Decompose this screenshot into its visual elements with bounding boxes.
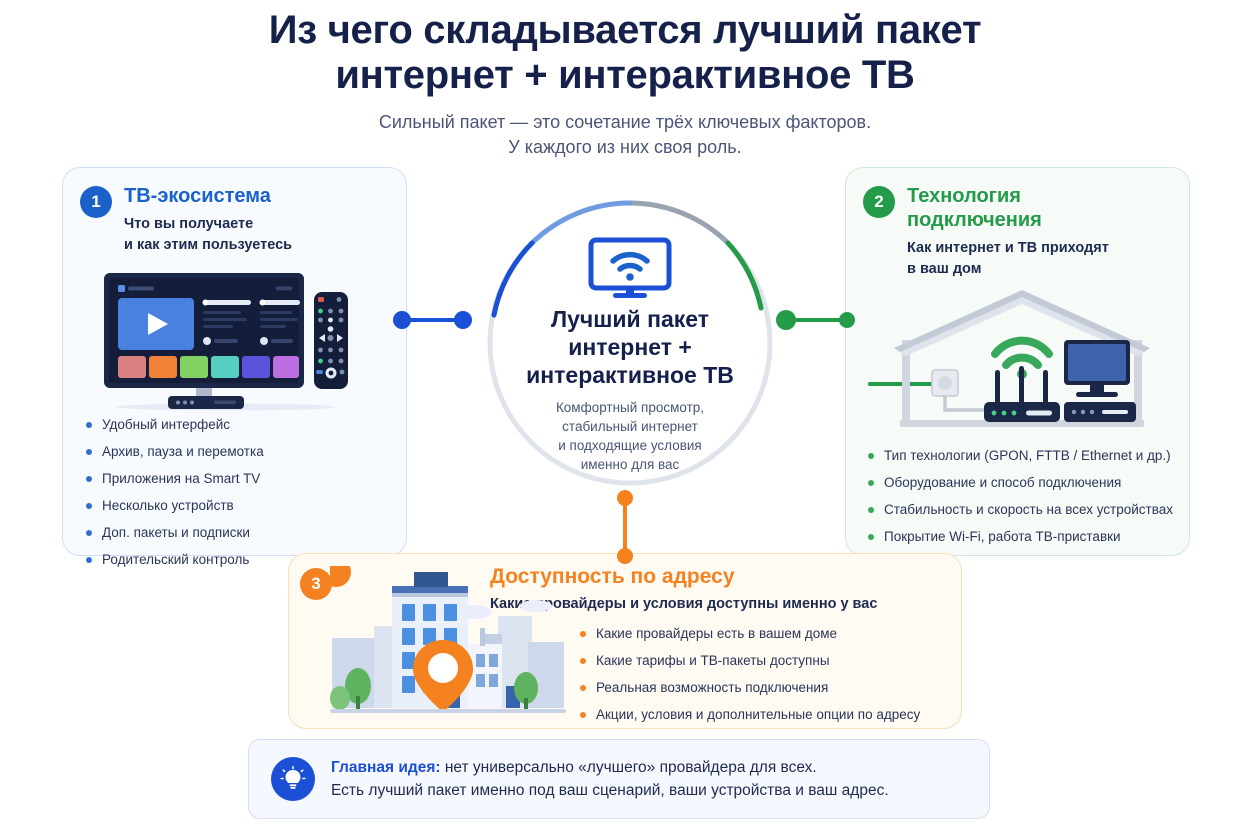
card1-subtitle-line2: и как этим пользуетесь <box>124 235 292 256</box>
key-idea-text: Главная идея: нет универсально «лучшего»… <box>331 756 889 802</box>
center-desc-line1: Комфортный просмотр, <box>556 398 704 417</box>
page-title: Из чего складывается лучший пакет интерн… <box>0 8 1250 98</box>
center-desc-line2: стабильный интернет <box>556 417 704 436</box>
list-item: Акции, условия и дополнительные опции по… <box>578 706 920 723</box>
card2-bullet-list: Тип технологии (GPON, FTTB / Ethernet и … <box>866 447 1173 555</box>
center-title-line3: интерактивное ТВ <box>526 361 734 389</box>
center-desc-line4: именно для вас <box>556 455 704 474</box>
card2-number-badge: 2 <box>863 186 895 218</box>
list-item: Удобный интерфейс <box>84 416 264 433</box>
card1-subtitle-line1: Что вы получаете <box>124 214 292 235</box>
card3-number-badge-wrap: 3 <box>300 566 332 600</box>
smart-tv-illustration <box>96 268 356 413</box>
center-hub: Лучший пакет интернет + интерактивное ТВ… <box>470 183 790 503</box>
key-idea-line2: Есть лучший пакет именно под ваш сценари… <box>331 779 889 802</box>
card2-subtitle: Как интернет и ТВ приходят в ваш дом <box>907 238 1109 280</box>
list-item: Тип технологии (GPON, FTTB / Ethernet и … <box>866 447 1173 464</box>
connector-dot-card2 <box>839 312 855 328</box>
card2-header: 2 Технология подключения Как интернет и … <box>845 167 1190 280</box>
card3-number-badge: 3 <box>300 568 332 600</box>
page-subtitle: Сильный пакет — это сочетание трёх ключе… <box>0 110 1250 160</box>
page-subtitle-line1: Сильный пакет — это сочетание трёх ключе… <box>0 110 1250 135</box>
card2-title-line2: подключения <box>907 208 1109 232</box>
list-item: Стабильность и скорость на всех устройст… <box>866 501 1173 518</box>
center-content: Лучший пакет интернет + интерактивное ТВ… <box>490 203 770 483</box>
card1-title: ТВ-экосистема <box>124 184 292 208</box>
card2-subtitle-line2: в ваш дом <box>907 259 1109 280</box>
page-header: Из чего складывается лучший пакет интерн… <box>0 8 1250 160</box>
list-item: Доп. пакеты и подписки <box>84 524 264 541</box>
page-subtitle-line2: У каждого из них своя роль. <box>0 135 1250 160</box>
center-title-line1: Лучший пакет <box>526 305 734 333</box>
list-item: Архив, пауза и перемотка <box>84 443 264 460</box>
key-idea-strong: Главная идея: <box>331 759 441 776</box>
center-description: Комфортный просмотр, стабильный интернет… <box>556 398 704 474</box>
center-desc-line3: и подходящие условия <box>556 436 704 455</box>
list-item: Какие провайдеры есть в вашем доме <box>578 625 920 642</box>
house-router-illustration <box>862 282 1182 437</box>
key-idea-banner: Главная идея: нет универсально «лучшего»… <box>248 739 990 819</box>
connector-dot-hub-left <box>454 311 472 329</box>
key-idea-line1-rest: нет универсально «лучшего» провайдера дл… <box>441 759 817 776</box>
list-item: Какие тарифы и ТВ-пакеты доступны <box>578 652 920 669</box>
lightbulb-icon <box>271 757 315 801</box>
list-item: Реальная возможность подключения <box>578 679 920 696</box>
card2-title-line1: Технология <box>907 184 1109 208</box>
key-idea-line1: Главная идея: нет универсально «лучшего»… <box>331 756 889 779</box>
list-item: Оборудование и способ подключения <box>866 474 1173 491</box>
card3-bullet-list: Какие провайдеры есть в вашем доме Какие… <box>578 625 920 733</box>
card2-title: Технология подключения <box>907 184 1109 232</box>
connector-dot-card1 <box>393 311 411 329</box>
center-title: Лучший пакет интернет + интерактивное ТВ <box>526 305 734 389</box>
page-title-line2: интернет + интерактивное ТВ <box>0 53 1250 98</box>
list-item: Приложения на Smart TV <box>84 470 264 487</box>
card1-number-badge: 1 <box>80 186 112 218</box>
list-item: Родительский контроль <box>84 551 264 568</box>
card1-bullet-list: Удобный интерфейс Архив, пауза и перемот… <box>84 416 264 578</box>
card2-subtitle-line1: Как интернет и ТВ приходят <box>907 238 1109 259</box>
city-map-pin-illustration <box>330 566 566 718</box>
list-item: Несколько устройств <box>84 497 264 514</box>
connector-dot-hub-bottom <box>617 490 633 506</box>
card1-header: 1 ТВ-экосистема Что вы получаете и как э… <box>62 167 407 256</box>
tv-wifi-icon <box>587 237 673 299</box>
list-item: Покрытие Wi-Fi, работа ТВ-приставки <box>866 528 1173 545</box>
connector-dot-hub-right <box>776 310 796 330</box>
center-title-line2: интернет + <box>526 333 734 361</box>
card1-subtitle: Что вы получаете и как этим пользуетесь <box>124 214 292 256</box>
page-title-line1: Из чего складывается лучший пакет <box>0 8 1250 53</box>
connector-dot-card3 <box>617 548 633 564</box>
infographic-canvas: Из чего складывается лучший пакет интерн… <box>0 0 1250 833</box>
